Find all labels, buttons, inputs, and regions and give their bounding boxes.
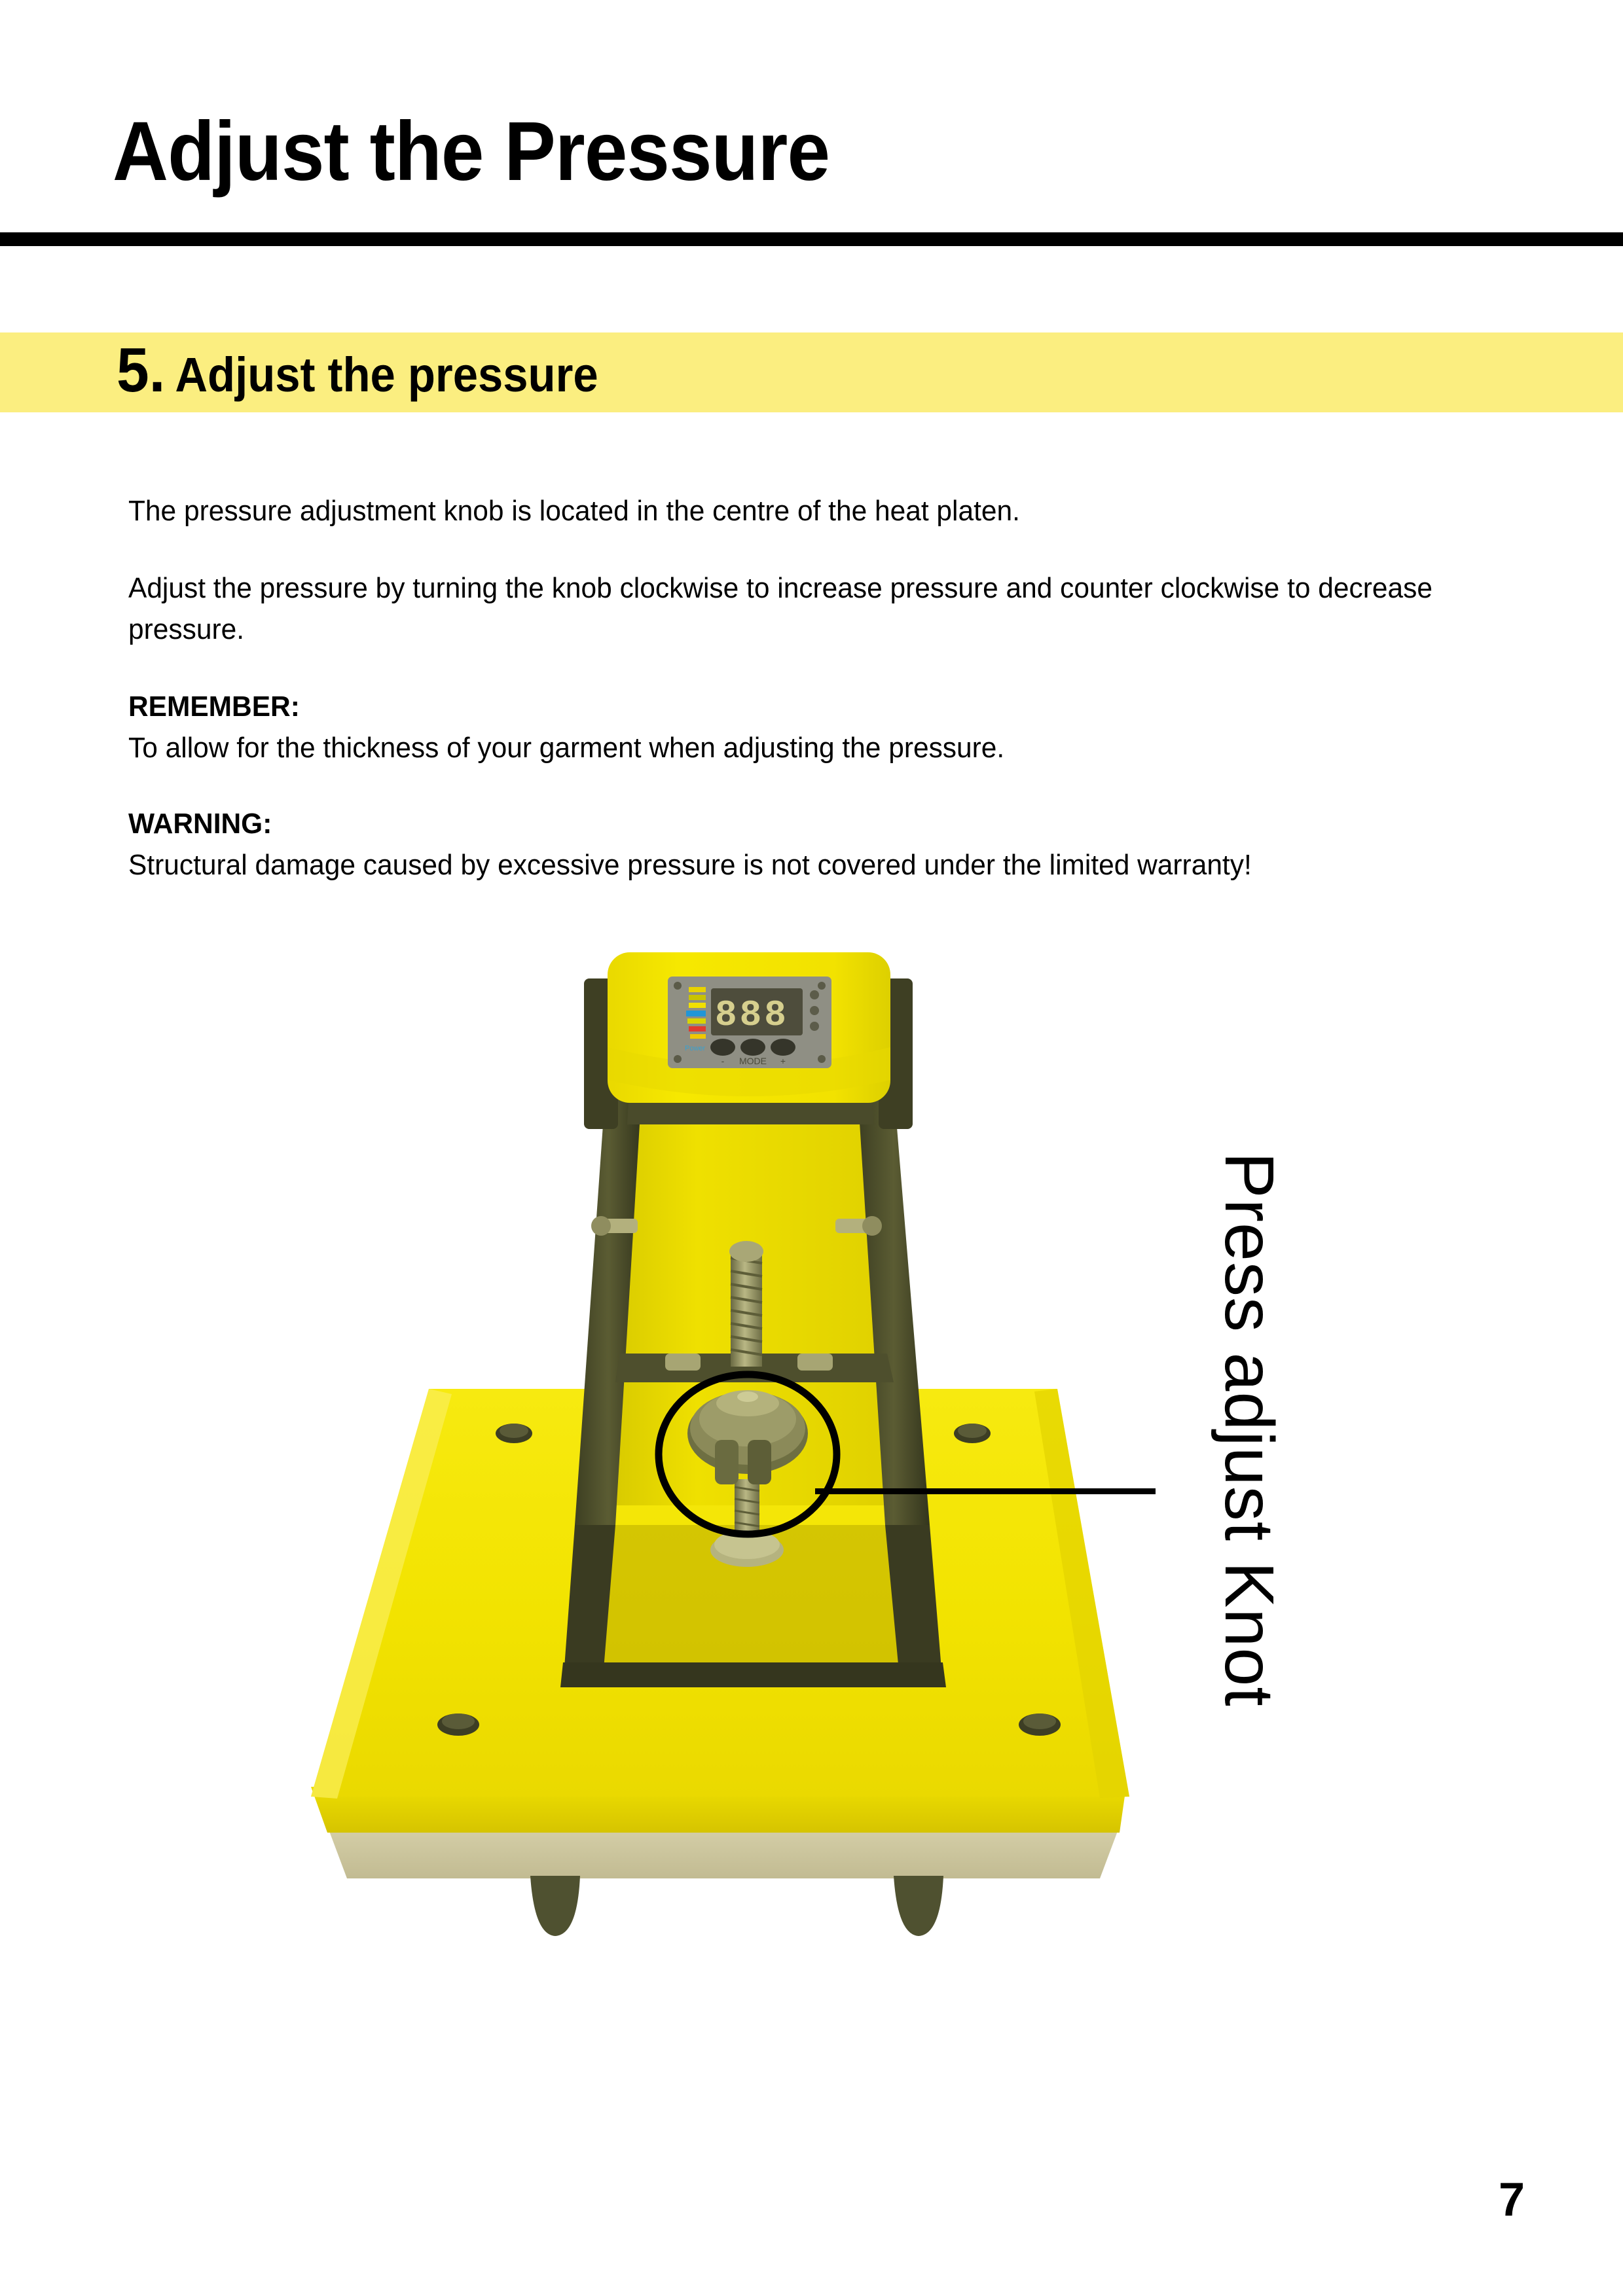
svg-text:Power: Power (685, 1045, 706, 1052)
remember-text: To allow for the thickness of your garme… (128, 728, 1461, 768)
warning-label: WARNING: (128, 804, 1461, 844)
knob-callout-label: Press adjust Knot (1214, 1152, 1284, 1707)
panel-buttons[interactable] (710, 1039, 795, 1056)
yoke-screw-right (797, 1354, 833, 1371)
minus-button[interactable] (710, 1039, 735, 1056)
frame-crossbar-top (627, 1101, 874, 1124)
svg-text:-: - (721, 1056, 725, 1066)
heat-press-illustration: Power 888 (249, 916, 1198, 1996)
paragraph-knob-location: The pressure adjustment knob is located … (128, 491, 1461, 531)
yoke-screw-left (665, 1354, 701, 1371)
control-head-housing: Power 888 (584, 952, 913, 1129)
frame-bottom-bar (560, 1662, 946, 1687)
remember-label: REMEMBER: (128, 687, 1461, 727)
section-number: 5. (117, 335, 165, 405)
platen-foot-left (530, 1876, 580, 1936)
callout-leader-line (815, 1488, 1156, 1494)
page-number: 7 (1499, 2173, 1525, 2227)
section-heading: 5.Adjust the pressure (117, 339, 598, 402)
platen-pad (327, 1826, 1120, 1878)
body-content: The pressure adjustment knob is located … (128, 491, 1510, 886)
svg-text:+: + (780, 1056, 786, 1066)
status-leds (810, 990, 819, 1031)
lcd-digits: 888 (715, 994, 789, 1036)
section-title: Adjust the pressure (175, 348, 598, 402)
heat-press-figure: Power 888 (249, 916, 1362, 2029)
spacer (128, 768, 1510, 804)
mode-button[interactable] (740, 1039, 765, 1056)
plus-button[interactable] (771, 1039, 795, 1056)
header-divider-rule (0, 232, 1623, 246)
page-title: Adjust the Pressure (113, 110, 830, 194)
warning-text: Structural damage caused by excessive pr… (128, 845, 1461, 886)
svg-text:888: 888 (715, 994, 789, 1036)
platen-foot-right (894, 1876, 943, 1936)
document-page: Adjust the Pressure 5.Adjust the pressur… (0, 0, 1623, 2296)
svg-text:MODE: MODE (739, 1056, 767, 1066)
paragraph-adjust-instructions: Adjust the pressure by turning the knob … (128, 568, 1461, 650)
threaded-adjust-shaft (729, 1241, 763, 1367)
